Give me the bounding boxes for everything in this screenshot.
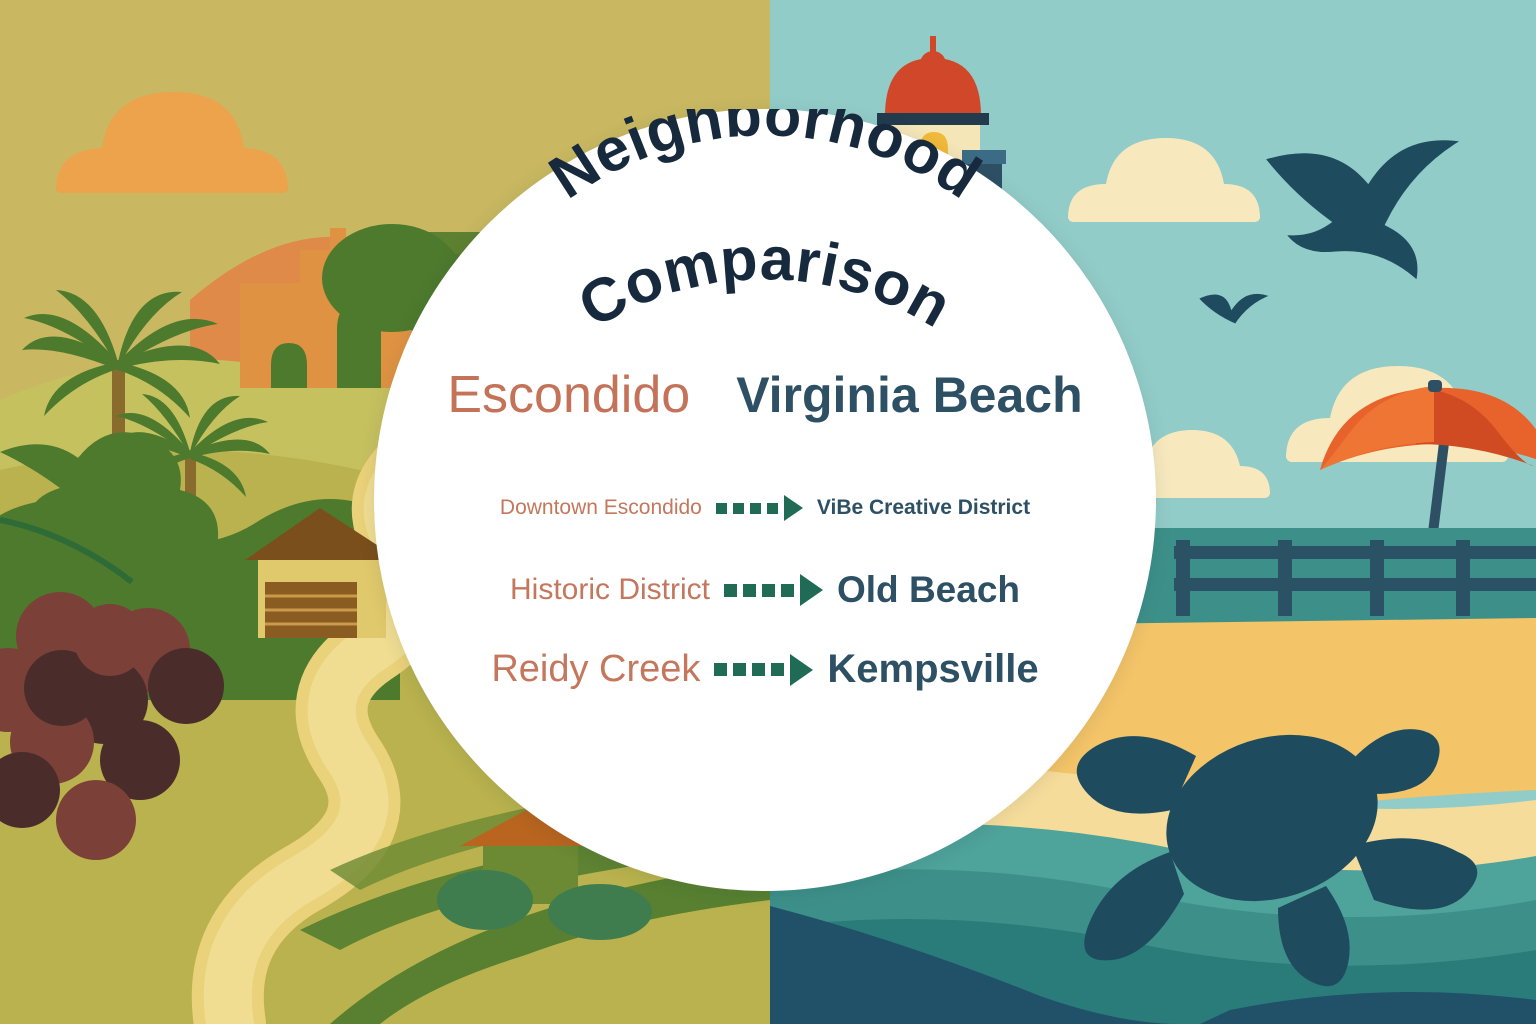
pair-left-label: Historic District — [510, 573, 710, 607]
pair-left-label: Downtown Escondido — [500, 496, 702, 520]
city-headline-row: Escondido Virginia Beach — [374, 368, 1156, 423]
pair-right-label: Kempsville — [827, 647, 1038, 692]
pair-right-label: ViBe Creative District — [817, 496, 1030, 520]
pair-right-label: Old Beach — [837, 569, 1020, 611]
dashed-arrow-icon — [716, 495, 803, 521]
pair-left-label: Reidy Creek — [491, 648, 700, 691]
neighborhood-pair-list: Downtown Escondido ViBe Creative Distric… — [374, 495, 1156, 692]
city-name-left: Escondido — [447, 368, 690, 423]
pair-row: Reidy Creek Kempsville — [374, 647, 1156, 692]
infographic-canvas: Neighborhood Comparison Escondido Virgin… — [0, 0, 1536, 1024]
bush — [437, 870, 533, 930]
dashed-arrow-icon — [724, 574, 823, 606]
pair-row: Downtown Escondido ViBe Creative Distric… — [374, 495, 1156, 521]
city-name-right: Virginia Beach — [736, 369, 1082, 422]
bush — [548, 884, 652, 940]
dashed-arrow-icon — [714, 654, 813, 686]
pair-row: Historic District Old Beach — [374, 569, 1156, 611]
